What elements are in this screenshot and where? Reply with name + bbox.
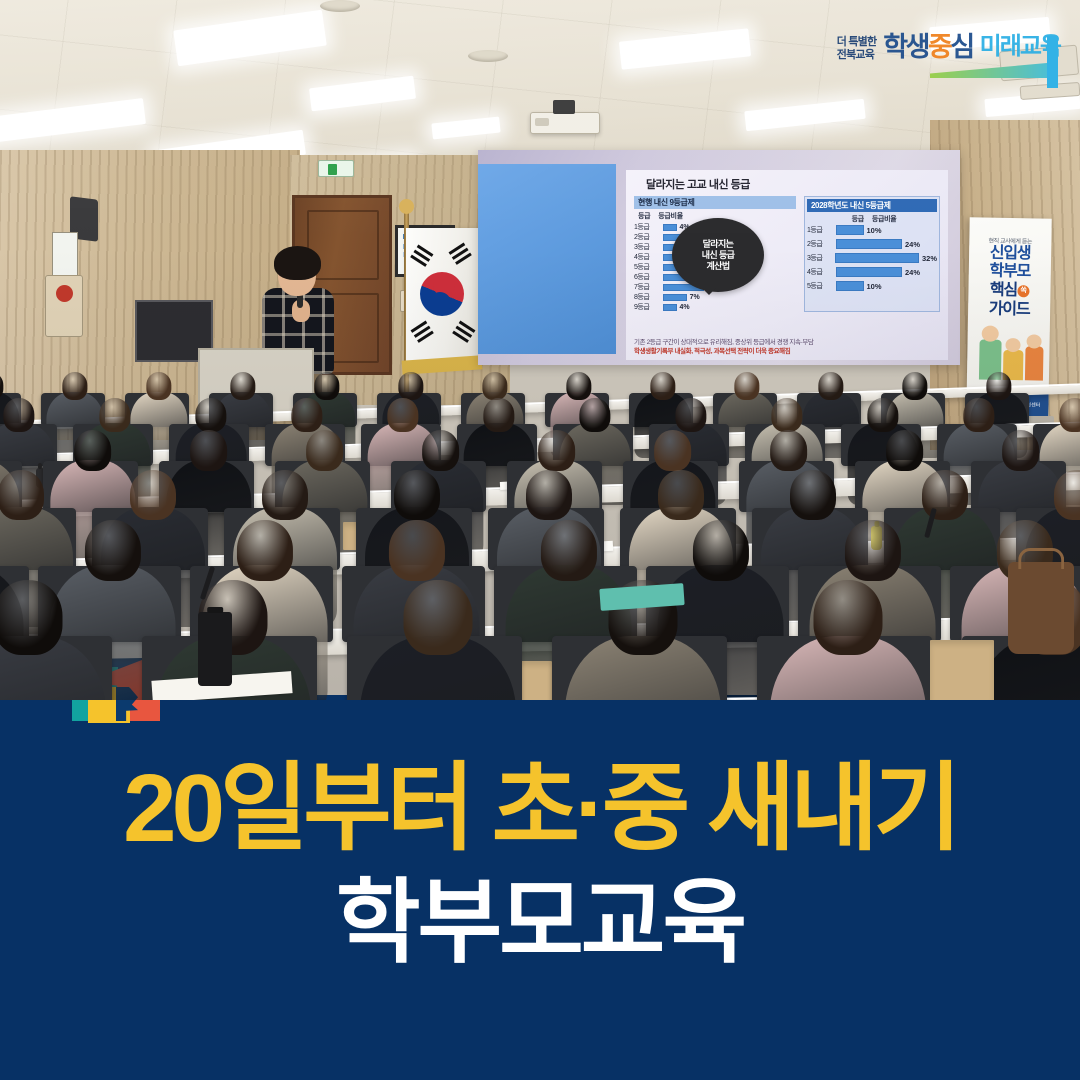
rollup-illustration xyxy=(975,323,1042,380)
watermark-accent: 중 xyxy=(928,32,950,62)
audience-member-head xyxy=(314,372,339,400)
audience-member-head xyxy=(922,470,968,520)
audience-member-head xyxy=(387,398,418,432)
audience-member-head xyxy=(62,372,87,400)
chart-row-label: 7등급 xyxy=(634,282,660,292)
watermark-part2: 심 xyxy=(950,32,972,62)
projection-screen: 달라지는 고교 내신 등급 현행 내신 9등급제 등급 등급비율 1등급4%2등… xyxy=(478,150,960,365)
banner-headline: 20일부터 초·중 새내기 학부모교육 xyxy=(0,695,1080,973)
chart-row-label: 1등급 xyxy=(634,222,660,232)
audience-member-head xyxy=(74,430,112,471)
audience-member-head xyxy=(538,430,576,471)
watermark-main-text: 학생중심 xyxy=(883,32,972,62)
audience-member-head xyxy=(844,520,900,581)
chart-panel-2028-header: 2028학년도 내신 5등급제 xyxy=(807,199,937,212)
rollup-line-2: 학부모 xyxy=(969,262,1051,281)
audience-member-head xyxy=(886,430,924,471)
chart-bar xyxy=(836,239,902,249)
chart-bar-value: 10% xyxy=(867,282,882,291)
audience-member-head xyxy=(291,398,322,432)
audience-member-head xyxy=(99,398,130,432)
screen-blue-area xyxy=(478,164,616,354)
watermark-small-line2: 전북교육 xyxy=(837,49,877,62)
audience-member-head xyxy=(3,398,34,432)
chart-row-label: 6등급 xyxy=(634,272,660,282)
audience-member-head xyxy=(986,372,1011,400)
wall-notice xyxy=(52,232,78,276)
chart-row: 1등급10% xyxy=(807,225,937,235)
audience-member-head xyxy=(130,470,176,520)
audience-member-head xyxy=(404,580,473,655)
audience-member-head xyxy=(236,520,292,581)
chart-bar xyxy=(663,294,687,301)
chart-bar xyxy=(835,253,919,263)
chart-panel-current-header: 현행 내신 9등급제 xyxy=(634,196,796,209)
chart-row-label: 4등급 xyxy=(807,267,833,277)
audience-member-head xyxy=(422,430,460,471)
audience-member-head xyxy=(771,398,802,432)
chart-bar xyxy=(663,224,677,231)
chart-bars-2028: 1등급10%2등급24%3등급32%4등급24%5등급10% xyxy=(807,225,937,291)
audience-member-head xyxy=(230,372,255,400)
audience-member-head xyxy=(818,372,843,400)
audience-member-head xyxy=(654,430,692,471)
chart-bar-value: 24% xyxy=(905,240,920,249)
chart-row-label: 9등급 xyxy=(634,302,660,312)
audience-member-head xyxy=(867,398,898,432)
slide-footnote: 기존 2등급 구간이 상대적으로 유리해짐, 중상위 등급에서 경쟁 지속·부담… xyxy=(634,338,940,356)
event-photo: 달라지는 고교 내신 등급 현행 내신 9등급제 등급 등급비율 1등급4%2등… xyxy=(0,0,1080,700)
col-header-grade: 등급 xyxy=(638,211,650,221)
bubble-line-3: 계산법 xyxy=(706,261,729,271)
audience-member-head xyxy=(814,580,883,655)
audience-member-head xyxy=(526,470,572,520)
chart-panel-2028: 2028학년도 내신 5등급제 등급 등급비율 1등급10%2등급24%3등급3… xyxy=(804,196,940,312)
chart-bar xyxy=(836,225,864,235)
headline-line-2: 학부모교육 xyxy=(0,873,1080,973)
audience-member-head xyxy=(566,372,591,400)
card-news-root: 달라지는 고교 내신 등급 현행 내신 9등급제 등급 등급비율 1등급4%2등… xyxy=(0,0,1080,1080)
chart-bar-value: 4% xyxy=(680,304,690,311)
speaker-hair xyxy=(274,246,321,280)
chart-bar-value: 7% xyxy=(690,294,700,301)
audience-member-head xyxy=(0,580,63,655)
smoke-detector-icon xyxy=(468,50,508,62)
audience-member-head xyxy=(963,398,994,432)
audience-member-head xyxy=(902,372,927,400)
chart-bar xyxy=(663,304,677,311)
chart-row: 3등급32% xyxy=(807,253,937,263)
korean-flag-icon xyxy=(406,228,478,366)
thermos-bottle xyxy=(198,612,232,686)
audience-member-head xyxy=(262,470,308,520)
chart-row-label: 2등급 xyxy=(807,239,833,249)
rollup-line-3: 핵심 xyxy=(990,282,1017,299)
chart-row-label: 3등급 xyxy=(634,242,660,252)
paper-gift-bag xyxy=(930,640,994,700)
title-banner: 20일부터 초·중 새내기 학부모교육 xyxy=(0,695,1080,1080)
chart-bar xyxy=(836,281,864,291)
rollup-line-4: 가이드 xyxy=(968,299,1050,319)
audience-member-head xyxy=(675,398,706,432)
audience-member-head xyxy=(482,372,507,400)
chart-bar-value: 24% xyxy=(905,268,920,277)
audience-member-head xyxy=(84,520,140,581)
col-header-ratio: 등급비율 xyxy=(658,211,683,221)
chart-bar xyxy=(836,267,902,277)
audience-member-head xyxy=(770,430,808,471)
chart-row: 5등급10% xyxy=(807,281,937,291)
presentation-slide: 달라지는 고교 내신 등급 현행 내신 9등급제 등급 등급비율 1등급4%2등… xyxy=(626,170,948,360)
watermark-part1: 학생 xyxy=(883,32,928,62)
bubble-line-1: 달라지는 xyxy=(703,239,734,249)
audience-member-head xyxy=(0,470,44,520)
chart-row: 4등급24% xyxy=(807,267,937,277)
slide-footnote-line1: 기존 2등급 구간이 상대적으로 유리해짐, 중상위 등급에서 경쟁 지속·부담 xyxy=(634,338,940,347)
audience-member-head xyxy=(394,470,440,520)
chart-row-label: 5등급 xyxy=(634,262,660,272)
slide-footnote-line2: 학생생활기록부 내실화, 적극성, 과목선택 전략이 더욱 중요해짐 xyxy=(634,347,940,356)
slide-callout-bubble: 달라지는 내신 등급 계산법 xyxy=(672,218,764,292)
rollup-accent-dot: 쏙 xyxy=(1017,285,1029,297)
col-header-ratio: 등급비율 xyxy=(872,214,897,224)
audience-member-head xyxy=(146,372,171,400)
chart-row-label: 5등급 xyxy=(807,281,833,291)
taeguk-symbol xyxy=(420,272,464,316)
col-header-grade: 등급 xyxy=(852,214,864,224)
slide-title: 달라지는 고교 내신 등급 xyxy=(646,176,940,192)
audience-member-head xyxy=(1059,398,1080,432)
watermark-small-line1: 더 특별한 xyxy=(837,36,877,49)
rollup-line-1: 신입생 xyxy=(969,244,1051,263)
audience-member-head xyxy=(388,520,444,581)
chart-bar-value: 32% xyxy=(922,254,937,263)
ceiling-projector xyxy=(530,112,600,134)
audience-member-head xyxy=(658,470,704,520)
handbag xyxy=(1008,562,1074,654)
audience-member-head xyxy=(540,520,596,581)
chart-row-label: 1등급 xyxy=(807,225,833,235)
chart-row-label: 8등급 xyxy=(634,292,660,302)
smoke-detector-icon xyxy=(320,0,360,12)
chart-row: 9등급4% xyxy=(634,302,796,312)
chart-row-label: 2등급 xyxy=(634,232,660,242)
audience-member-head xyxy=(692,520,748,581)
audience-member-head xyxy=(734,372,759,400)
audience-member-head xyxy=(398,372,423,400)
audience-member-head xyxy=(190,430,228,471)
audience-member-head xyxy=(579,398,610,432)
exit-sign-icon xyxy=(318,160,354,177)
chart-row: 2등급24% xyxy=(807,239,937,249)
audience-member-head xyxy=(483,398,514,432)
bubble-line-2: 내신 등급 xyxy=(702,250,735,260)
audience-member-head xyxy=(195,398,226,432)
audience-member-head xyxy=(1002,430,1040,471)
chart-row-label: 4등급 xyxy=(634,252,660,262)
jb-education-watermark: 더 특별한 전북교육 학생중심 미래교육 xyxy=(837,32,1060,62)
chart-row-label: 3등급 xyxy=(807,253,832,263)
chart-bar-value: 10% xyxy=(867,226,882,235)
audience-member-head xyxy=(650,372,675,400)
audience-member-head xyxy=(306,430,344,471)
headline-line-1: 20일부터 초·중 새내기 xyxy=(0,757,1080,861)
fire-alarm-box xyxy=(45,275,83,337)
watermark-bar xyxy=(1047,36,1058,88)
audience-member-head xyxy=(790,470,836,520)
